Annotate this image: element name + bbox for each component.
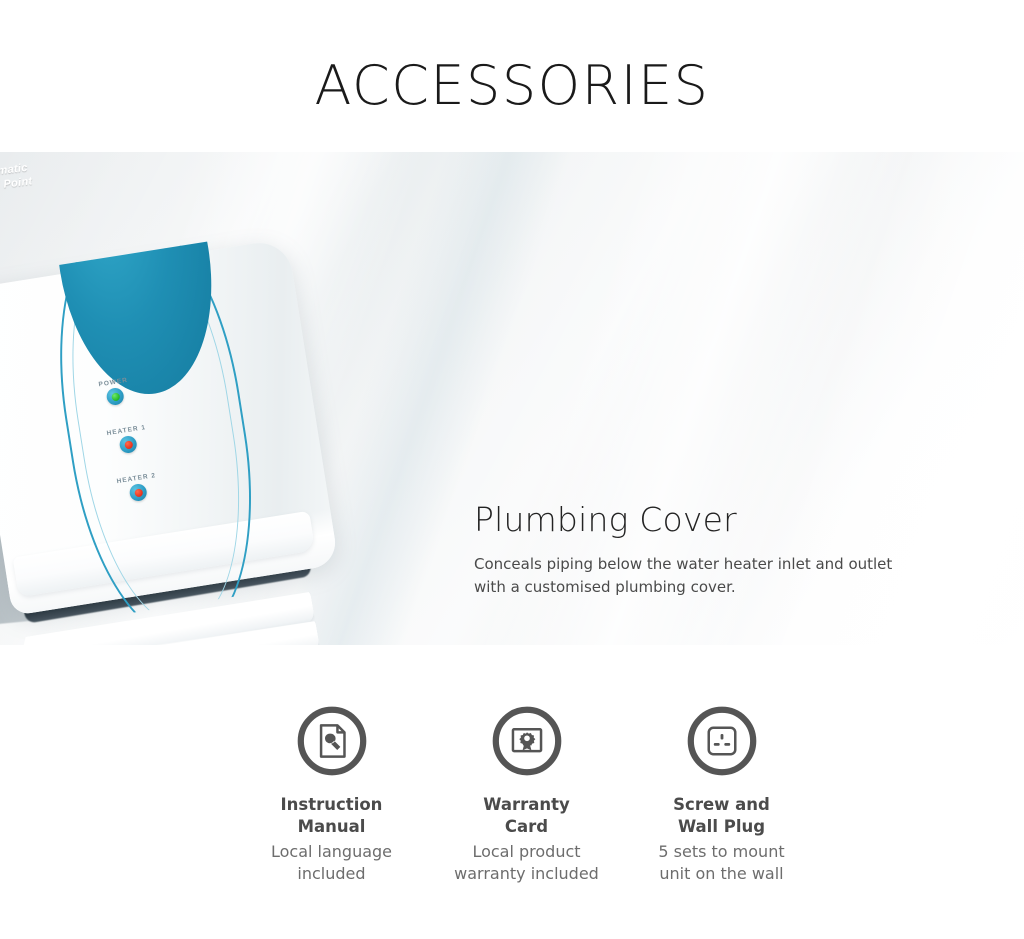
hero-section: Automatic Multi Point POWER HEATER 1 HEA… — [0, 152, 1024, 645]
accessory-title-line-1: Instruction — [281, 795, 383, 814]
accessory-title-line-2: Manual — [298, 817, 366, 836]
heater-2-led-dot — [134, 488, 143, 497]
accessory-sub-line-1: Local product — [472, 842, 580, 861]
accessory-title: Screw and Wall Plug — [673, 794, 770, 839]
wall-socket-icon — [683, 702, 761, 780]
power-led — [106, 387, 125, 406]
accessory-item-screw-wall-plug: Screw and Wall Plug 5 sets to mount unit… — [624, 702, 819, 885]
accessory-title-line-2: Wall Plug — [678, 817, 765, 836]
accessory-title-line-1: Warranty — [483, 795, 570, 814]
accessory-subtitle: 5 sets to mount unit on the wall — [658, 841, 784, 885]
accessory-title-line-2: Card — [505, 817, 548, 836]
accessory-title: Warranty Card — [483, 794, 570, 839]
accessory-subtitle: Local product warranty included — [454, 841, 599, 885]
accessory-sub-line-2: unit on the wall — [659, 864, 783, 883]
hero-heading: Plumbing Cover — [474, 500, 904, 540]
accessory-sub-line-2: included — [297, 864, 365, 883]
indicator-power: POWER — [98, 377, 131, 407]
accessory-item-instruction-manual: Instruction Manual Local language includ… — [234, 702, 429, 885]
accessories-page: ACCESSORIES Automatic Multi Point POWER — [0, 0, 1024, 939]
hero-description: Conceals piping below the water heater i… — [474, 553, 904, 600]
heater-2-led — [129, 483, 148, 502]
water-heater-product-image: Automatic Multi Point POWER HEATER 1 HEA… — [0, 152, 400, 645]
power-led-dot — [111, 392, 120, 401]
page-title: ACCESSORIES — [0, 56, 1024, 115]
heater-1-led-dot — [124, 440, 133, 449]
accessories-list: Instruction Manual Local language includ… — [234, 702, 819, 885]
accessory-sub-line-1: 5 sets to mount — [658, 842, 784, 861]
accessory-subtitle: Local language included — [271, 841, 392, 885]
accessory-title-line-1: Screw and — [673, 795, 770, 814]
document-wrench-icon — [293, 702, 371, 780]
accessory-title: Instruction Manual — [281, 794, 383, 839]
warranty-certificate-icon — [488, 702, 566, 780]
accessory-item-warranty-card: Warranty Card Local product warranty inc… — [429, 702, 624, 885]
accessory-sub-line-2: warranty included — [454, 864, 599, 883]
hero-copy: Plumbing Cover Conceals piping below the… — [474, 500, 904, 599]
heater-1-led — [119, 435, 138, 454]
accessory-sub-line-1: Local language — [271, 842, 392, 861]
brand-label: Automatic Multi Point — [0, 152, 113, 196]
